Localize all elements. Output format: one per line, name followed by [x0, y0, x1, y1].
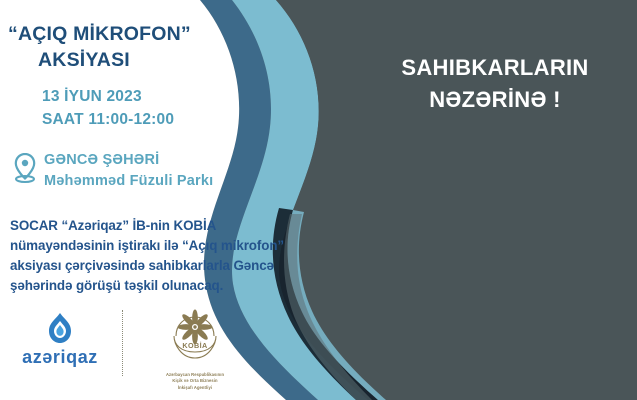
svg-text:KOBİA: KOBİA [182, 341, 207, 350]
event-datetime: 13 İYUN 2023 SAAT 11:00-12:00 [42, 85, 322, 132]
page-title: “AÇIQ MİKROFON” AKSİYASI [8, 22, 308, 73]
description-line-3: aksiyası çərçivəsində sahibkarlarla Gənc… [10, 256, 322, 276]
kobia-sub-line-2: Kiçik və Orta Biznesin [166, 378, 224, 384]
location-city: GƏNCƏ ŞƏHƏRİ [44, 150, 213, 171]
kobia-subtitle: Azərbaycan Respublikasının Kiçik və Orta… [166, 372, 224, 391]
location-venue: Məhəmməd Füzuli Parkı [44, 171, 213, 192]
logo-row: azəriqaz [14, 308, 314, 394]
description-line-1: SOCAR “Azəriqaz” İB-nin KOBİA [10, 216, 322, 236]
event-time: SAAT 11:00-12:00 [42, 108, 322, 131]
headline-line-2: NƏZƏRİNƏ ! [360, 84, 630, 116]
map-pin-icon [14, 153, 36, 183]
event-location: GƏNCƏ ŞƏHƏRİ Məhəmməd Füzuli Parkı [14, 150, 304, 192]
azeriqaz-logo: azəriqaz [14, 308, 106, 368]
description-line-4: şəhərində görüşü təşkil olunacaq. [10, 276, 322, 296]
azeriqaz-wordmark: azəriqaz [22, 347, 98, 368]
event-date: 13 İYUN 2023 [42, 85, 322, 108]
gas-flame-icon [45, 312, 75, 344]
location-text: GƏNCƏ ŞƏHƏRİ Məhəmməd Füzuli Parkı [44, 150, 213, 192]
event-poster: “AÇIQ MİKROFON” AKSİYASI 13 İYUN 2023 SA… [0, 0, 637, 400]
kobia-flower-icon: KOBİA [164, 308, 226, 370]
kobia-logo: KOBİA Azərbaycan Respublikasının Kiçik v… [139, 308, 251, 391]
logo-divider [122, 310, 123, 376]
kobia-sub-line-3: İnkişafı Agentliyi [166, 385, 224, 391]
description-line-2: nümayəndəsinin iştirakı ilə “Açıq mikrof… [10, 236, 322, 256]
title-line-1: “AÇIQ MİKROFON” [8, 23, 191, 45]
left-info-column: “AÇIQ MİKROFON” AKSİYASI 13 İYUN 2023 SA… [0, 0, 330, 400]
headline: SAHIBKARLARIN NƏZƏRİNƏ ! [360, 52, 630, 116]
headline-line-1: SAHIBKARLARIN [360, 52, 630, 84]
event-description: SOCAR “Azəriqaz” İB-nin KOBİA nümayəndəs… [10, 216, 322, 296]
title-line-2: AKSİYASI [8, 48, 308, 74]
